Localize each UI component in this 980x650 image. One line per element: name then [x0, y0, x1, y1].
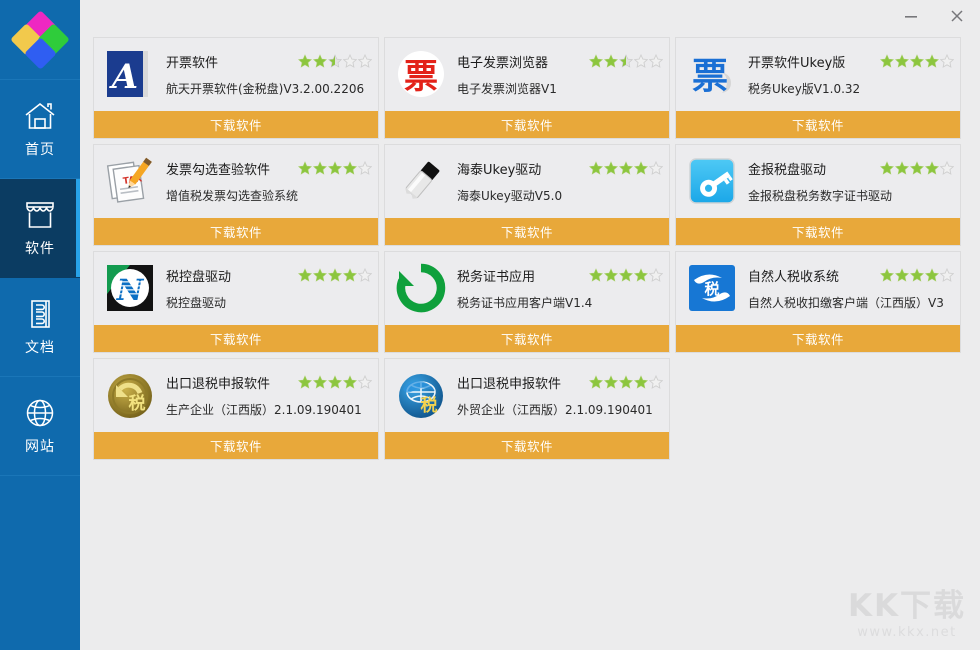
card-text: 金报税盘驱动 金报税盘税务数字证书驱动: [748, 159, 954, 204]
card-title: 出口退税申报软件: [166, 373, 270, 392]
card-text: 出口退税申报软件 生产企业（江西版）2.1.09.190401: [166, 373, 372, 418]
svg-text:N: N: [116, 273, 145, 307]
card-description: 海泰Ukey驱动V5.0: [457, 187, 663, 204]
card-description: 税控盘驱动: [166, 294, 372, 311]
rating-stars[interactable]: [880, 54, 954, 68]
globe-icon: [23, 397, 57, 429]
software-card[interactable]: 票 电子发票浏览器 电子发票浏览器V1 下载软件: [384, 37, 670, 139]
software-card[interactable]: N N 税控盘驱动 税控盘驱动 下载软件: [93, 251, 379, 353]
sidebar-item-label: 网站: [25, 436, 55, 456]
minimize-button[interactable]: [888, 0, 934, 32]
card-text: 电子发票浏览器 电子发票浏览器V1: [457, 52, 663, 97]
card-description: 税务证书应用客户端V1.4: [457, 294, 663, 311]
card-description: 金报税盘税务数字证书驱动: [748, 187, 954, 204]
download-button[interactable]: 下载软件: [94, 324, 378, 352]
gold-coin-shui-icon: 税: [104, 369, 156, 421]
card-title: 开票软件: [166, 52, 218, 71]
card-header-row: 发票勾选查验软件: [166, 159, 372, 178]
shop-icon: [23, 199, 57, 231]
content-area: A 开票软件 航天开票软件(金税盘)V3.2.00.2206 下载软件 票: [80, 32, 980, 650]
sidebar-item-website[interactable]: 网站: [0, 377, 80, 476]
card-title: 海泰Ukey驱动: [457, 159, 541, 178]
sidebar-item-software[interactable]: 软件: [0, 179, 80, 278]
shui-blue-swirl-icon: 税: [686, 262, 738, 314]
download-button[interactable]: 下载软件: [676, 324, 960, 352]
close-button[interactable]: [934, 0, 980, 32]
card-header-row: 税控盘驱动: [166, 266, 372, 285]
svg-text:A: A: [109, 57, 138, 97]
card-header-row: 海泰Ukey驱动: [457, 159, 663, 178]
card-body: N N 税控盘驱动 税控盘驱动: [94, 252, 378, 324]
software-card[interactable]: TAX 发票勾选查验软件 增值税发票勾选查验系统 下载软件: [93, 144, 379, 246]
card-body: 税 出口退税申报软件 生产企业（江西版）2.1.09.190401: [94, 359, 378, 431]
software-card[interactable]: 海泰Ukey驱动 海泰Ukey驱动V5.0 下载软件: [384, 144, 670, 246]
download-button[interactable]: 下载软件: [94, 110, 378, 138]
card-title: 出口退税申报软件: [457, 373, 561, 392]
card-description: 外贸企业（江西版）2.1.09.190401: [457, 401, 663, 418]
card-header-row: 出口退税申报软件: [166, 373, 372, 392]
book-icon: [23, 298, 57, 330]
piao-blue-icon: 票: [686, 48, 738, 100]
card-header-row: 开票软件Ukey版: [748, 52, 954, 71]
close-icon: [950, 9, 964, 23]
card-description: 增值税发票勾选查验系统: [166, 187, 372, 204]
card-header-row: 出口退税申报软件: [457, 373, 663, 392]
card-title: 税控盘驱动: [166, 266, 231, 285]
rating-stars[interactable]: [589, 375, 663, 389]
rating-stars[interactable]: [298, 161, 372, 175]
download-button[interactable]: 下载软件: [676, 110, 960, 138]
rating-stars[interactable]: [880, 161, 954, 175]
download-button[interactable]: 下载软件: [385, 431, 669, 459]
watermark-url: www.kkx.net: [848, 625, 966, 640]
card-body: 票 开票软件Ukey版 税务Ukey版V1.0.32: [676, 38, 960, 110]
tax-doc-pencil-icon: TAX: [104, 155, 156, 207]
card-header-row: 金报税盘驱动: [748, 159, 954, 178]
download-button[interactable]: 下载软件: [385, 217, 669, 245]
card-body: 海泰Ukey驱动 海泰Ukey驱动V5.0: [385, 145, 669, 217]
card-text: 出口退税申报软件 外贸企业（江西版）2.1.09.190401: [457, 373, 663, 418]
card-body: A 开票软件 航天开票软件(金税盘)V3.2.00.2206: [94, 38, 378, 110]
sidebar-item-label: 文档: [25, 337, 55, 357]
software-card[interactable]: 税 出口退税申报软件 外贸企业（江西版）2.1.09.190401 下载软件: [384, 358, 670, 460]
card-text: 发票勾选查验软件 增值税发票勾选查验系统: [166, 159, 372, 204]
svg-text:税: 税: [421, 395, 438, 416]
card-body: 税 出口退税申报软件 外贸企业（江西版）2.1.09.190401: [385, 359, 669, 431]
diamond-logo-icon: [15, 15, 65, 65]
card-body: 票 电子发票浏览器 电子发票浏览器V1: [385, 38, 669, 110]
svg-text:税: 税: [129, 393, 146, 414]
card-description: 税务Ukey版V1.0.32: [748, 80, 954, 97]
watermark-title: KK下载: [848, 589, 966, 623]
sidebar-item-label: 首页: [25, 139, 55, 159]
sidebar-item-docs[interactable]: 文档: [0, 278, 80, 377]
card-text: 税务证书应用 税务证书应用客户端V1.4: [457, 266, 663, 311]
download-button[interactable]: 下载软件: [676, 217, 960, 245]
rating-stars[interactable]: [298, 375, 372, 389]
watermark: KK下载 www.kkx.net: [848, 589, 966, 640]
card-title: 电子发票浏览器: [457, 52, 548, 71]
download-button[interactable]: 下载软件: [385, 324, 669, 352]
card-body: 税务证书应用 税务证书应用客户端V1.4: [385, 252, 669, 324]
software-card-grid: A 开票软件 航天开票软件(金税盘)V3.2.00.2206 下载软件 票: [93, 37, 970, 460]
card-header-row: 自然人税收系统: [748, 266, 954, 285]
usb-key-icon: [395, 155, 447, 207]
software-card[interactable]: 税务证书应用 税务证书应用客户端V1.4 下载软件: [384, 251, 670, 353]
app-logo: [0, 0, 80, 80]
blue-key-icon: [686, 155, 738, 207]
card-description: 航天开票软件(金税盘)V3.2.00.2206: [166, 80, 372, 97]
card-description: 生产企业（江西版）2.1.09.190401: [166, 401, 372, 418]
svg-text:税: 税: [704, 280, 719, 298]
rating-stars[interactable]: [298, 268, 372, 282]
download-button[interactable]: 下载软件: [385, 110, 669, 138]
card-title: 自然人税收系统: [748, 266, 839, 285]
card-title: 金报税盘驱动: [748, 159, 826, 178]
rating-stars[interactable]: [298, 54, 372, 68]
card-header-row: 税务证书应用: [457, 266, 663, 285]
card-title: 税务证书应用: [457, 266, 535, 285]
blue-globe-shui-icon: 税: [395, 369, 447, 421]
n-letter-circle-icon: N N: [104, 262, 156, 314]
card-header-row: 开票软件: [166, 52, 372, 71]
svg-text:票: 票: [692, 56, 728, 97]
sidebar-item-home[interactable]: 首页: [0, 80, 80, 179]
card-body: TAX 发票勾选查验软件 增值税发票勾选查验系统: [94, 145, 378, 217]
card-text: 海泰Ukey驱动 海泰Ukey驱动V5.0: [457, 159, 663, 204]
sidebar: 首页 软件 文档: [0, 0, 80, 650]
titlebar: [80, 0, 980, 32]
card-header-row: 电子发票浏览器: [457, 52, 663, 71]
download-button[interactable]: 下载软件: [94, 217, 378, 245]
card-title: 开票软件Ukey版: [748, 52, 845, 71]
card-description: 电子发票浏览器V1: [457, 80, 663, 97]
software-card[interactable]: 税 自然人税收系统 自然人税收扣缴客户端（江西版）V3 下载软件: [675, 251, 961, 353]
sidebar-item-label: 软件: [25, 238, 55, 258]
card-body: 税 自然人税收系统 自然人税收扣缴客户端（江西版）V3: [676, 252, 960, 324]
svg-text:票: 票: [404, 57, 438, 97]
card-text: 税控盘驱动 税控盘驱动: [166, 266, 372, 311]
green-refresh-icon: [395, 262, 447, 314]
software-card[interactable]: A 开票软件 航天开票软件(金税盘)V3.2.00.2206 下载软件: [93, 37, 379, 139]
software-card[interactable]: 税 出口退税申报软件 生产企业（江西版）2.1.09.190401 下载软件: [93, 358, 379, 460]
card-text: 开票软件 航天开票软件(金税盘)V3.2.00.2206: [166, 52, 372, 97]
rating-stars[interactable]: [589, 54, 663, 68]
download-button[interactable]: 下载软件: [94, 431, 378, 459]
card-text: 自然人税收系统 自然人税收扣缴客户端（江西版）V3: [748, 266, 954, 311]
aisino-a-icon: A: [104, 48, 156, 100]
card-body: 金报税盘驱动 金报税盘税务数字证书驱动: [676, 145, 960, 217]
software-card[interactable]: 票 开票软件Ukey版 税务Ukey版V1.0.32 下载软件: [675, 37, 961, 139]
software-card[interactable]: 金报税盘驱动 金报税盘税务数字证书驱动 下载软件: [675, 144, 961, 246]
home-icon: [23, 100, 57, 132]
minimize-icon: [904, 9, 918, 23]
piao-red-circle-icon: 票: [395, 48, 447, 100]
rating-stars[interactable]: [589, 268, 663, 282]
card-text: 开票软件Ukey版 税务Ukey版V1.0.32: [748, 52, 954, 97]
card-title: 发票勾选查验软件: [166, 159, 270, 178]
rating-stars[interactable]: [589, 161, 663, 175]
rating-stars[interactable]: [880, 268, 954, 282]
card-description: 自然人税收扣缴客户端（江西版）V3: [748, 294, 954, 311]
